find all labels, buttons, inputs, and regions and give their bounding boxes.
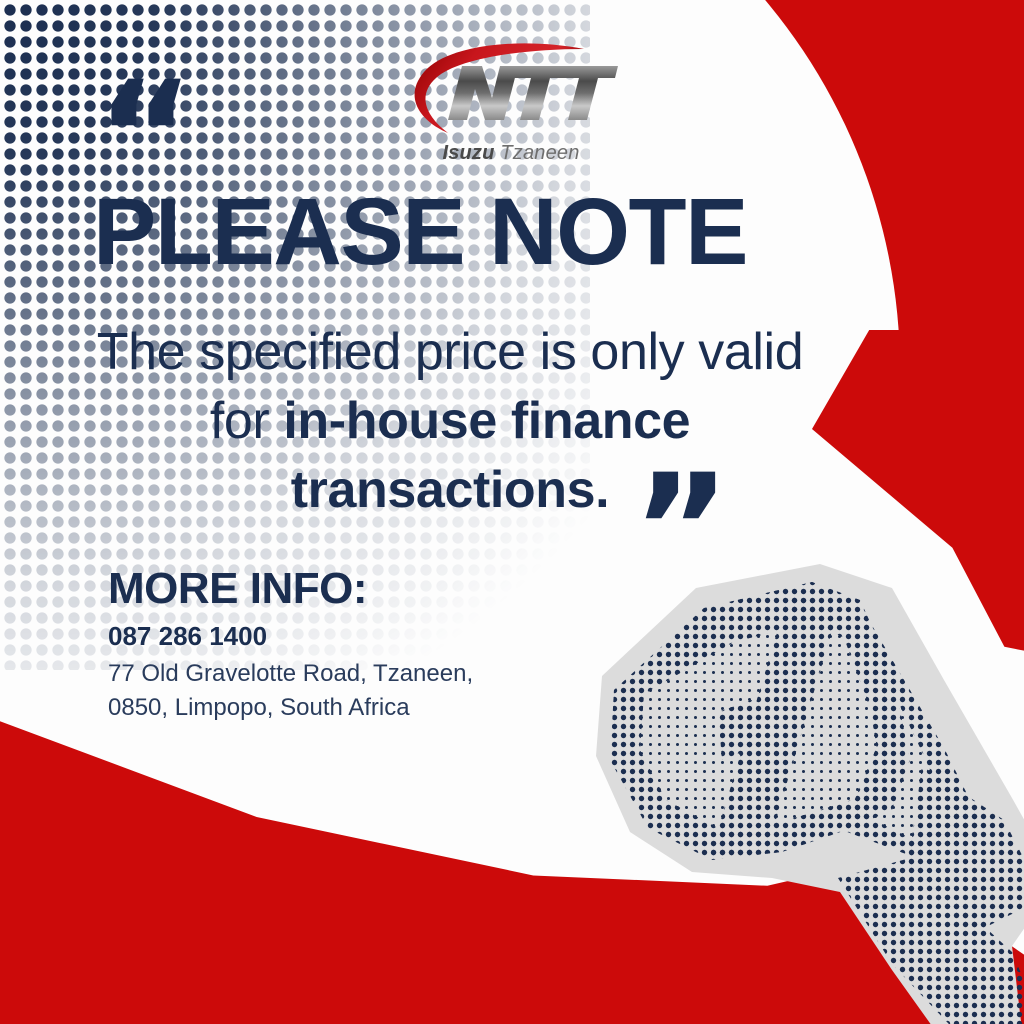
contact-address-line-1: 77 Old Gravelotte Road, Tzaneen,	[108, 657, 473, 691]
promo-poster: Isuzu Tzaneen “ ” PLEASE NOTE The specif…	[0, 0, 1024, 1024]
contact-heading: MORE INFO:	[108, 565, 473, 613]
body-line-1: The specified price is only valid	[60, 318, 840, 387]
body-line-3: transactions.	[60, 456, 840, 525]
body-line-2-emphasis: in-house finance	[283, 392, 690, 450]
body-line-2-prefix: for	[210, 392, 284, 450]
megaphone-icon	[592, 560, 1024, 1024]
contact-block: MORE INFO: 087 286 1400 77 Old Gravelott…	[108, 565, 473, 725]
contact-address: 77 Old Gravelotte Road, Tzaneen, 0850, L…	[108, 657, 473, 725]
body-line-2: for in-house finance	[60, 387, 840, 456]
contact-address-line-2: 0850, Limpopo, South Africa	[108, 691, 473, 725]
ntt-logo: Isuzu Tzaneen	[396, 40, 626, 170]
ntt-logo-mark	[396, 40, 626, 140]
body-message: The specified price is only valid for in…	[60, 318, 840, 525]
page-title: PLEASE NOTE	[0, 185, 840, 280]
dealer-location: Tzaneen	[500, 142, 579, 164]
dealer-name: Isuzu Tzaneen	[396, 142, 626, 165]
megaphone-illustration	[592, 560, 1024, 1024]
ntt-wordmark	[448, 66, 618, 120]
dealer-brand: Isuzu	[442, 142, 494, 164]
contact-phone[interactable]: 087 286 1400	[108, 621, 473, 652]
